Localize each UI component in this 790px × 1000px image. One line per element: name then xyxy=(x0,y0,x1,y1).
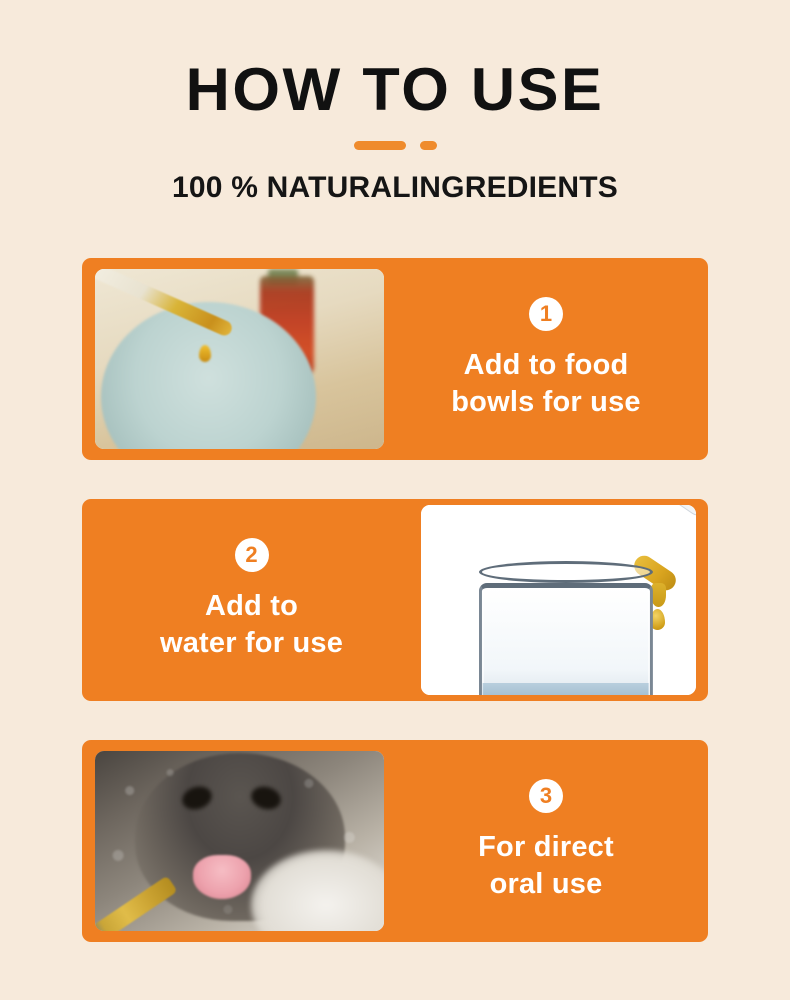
step-2-image xyxy=(421,505,696,695)
title-divider xyxy=(343,141,447,150)
step-card-1: 1 Add to food bowls for use xyxy=(82,258,708,460)
header: HOW TO USE 100 % NATURALINGREDIENTS xyxy=(0,0,790,205)
step-3-label: For direct oral use xyxy=(478,829,614,902)
page-title: HOW TO USE xyxy=(0,58,790,121)
steps-list: 1 Add to food bowls for use 2 Add to xyxy=(82,258,708,942)
step-1-image xyxy=(95,269,384,449)
step-1-number-badge: 1 xyxy=(529,297,563,331)
step-card-3: 3 For direct oral use xyxy=(82,740,708,942)
divider-long-bar xyxy=(354,141,406,150)
step-2-number-badge: 2 xyxy=(235,538,269,572)
step-1-label: Add to food bowls for use xyxy=(451,347,641,420)
step-2-label: Add to water for use xyxy=(160,588,343,661)
step-3-number-badge: 3 xyxy=(529,779,563,813)
divider-short-bar xyxy=(420,141,437,150)
poster-page: HOW TO USE 100 % NATURALINGREDIENTS xyxy=(0,0,790,1000)
page-subtitle: 100 % NATURALINGREDIENTS xyxy=(0,171,790,205)
step-1-body: 1 Add to food bowls for use xyxy=(384,297,708,420)
kibble-bowl-illustration xyxy=(95,269,384,449)
dog-snout-illustration xyxy=(95,751,384,931)
step-3-body: 3 For direct oral use xyxy=(384,779,708,902)
step-3-image xyxy=(95,751,384,931)
step-card-2: 2 Add to water for use xyxy=(82,499,708,701)
water-glass-illustration xyxy=(421,505,696,695)
step-2-body: 2 Add to water for use xyxy=(82,538,421,661)
